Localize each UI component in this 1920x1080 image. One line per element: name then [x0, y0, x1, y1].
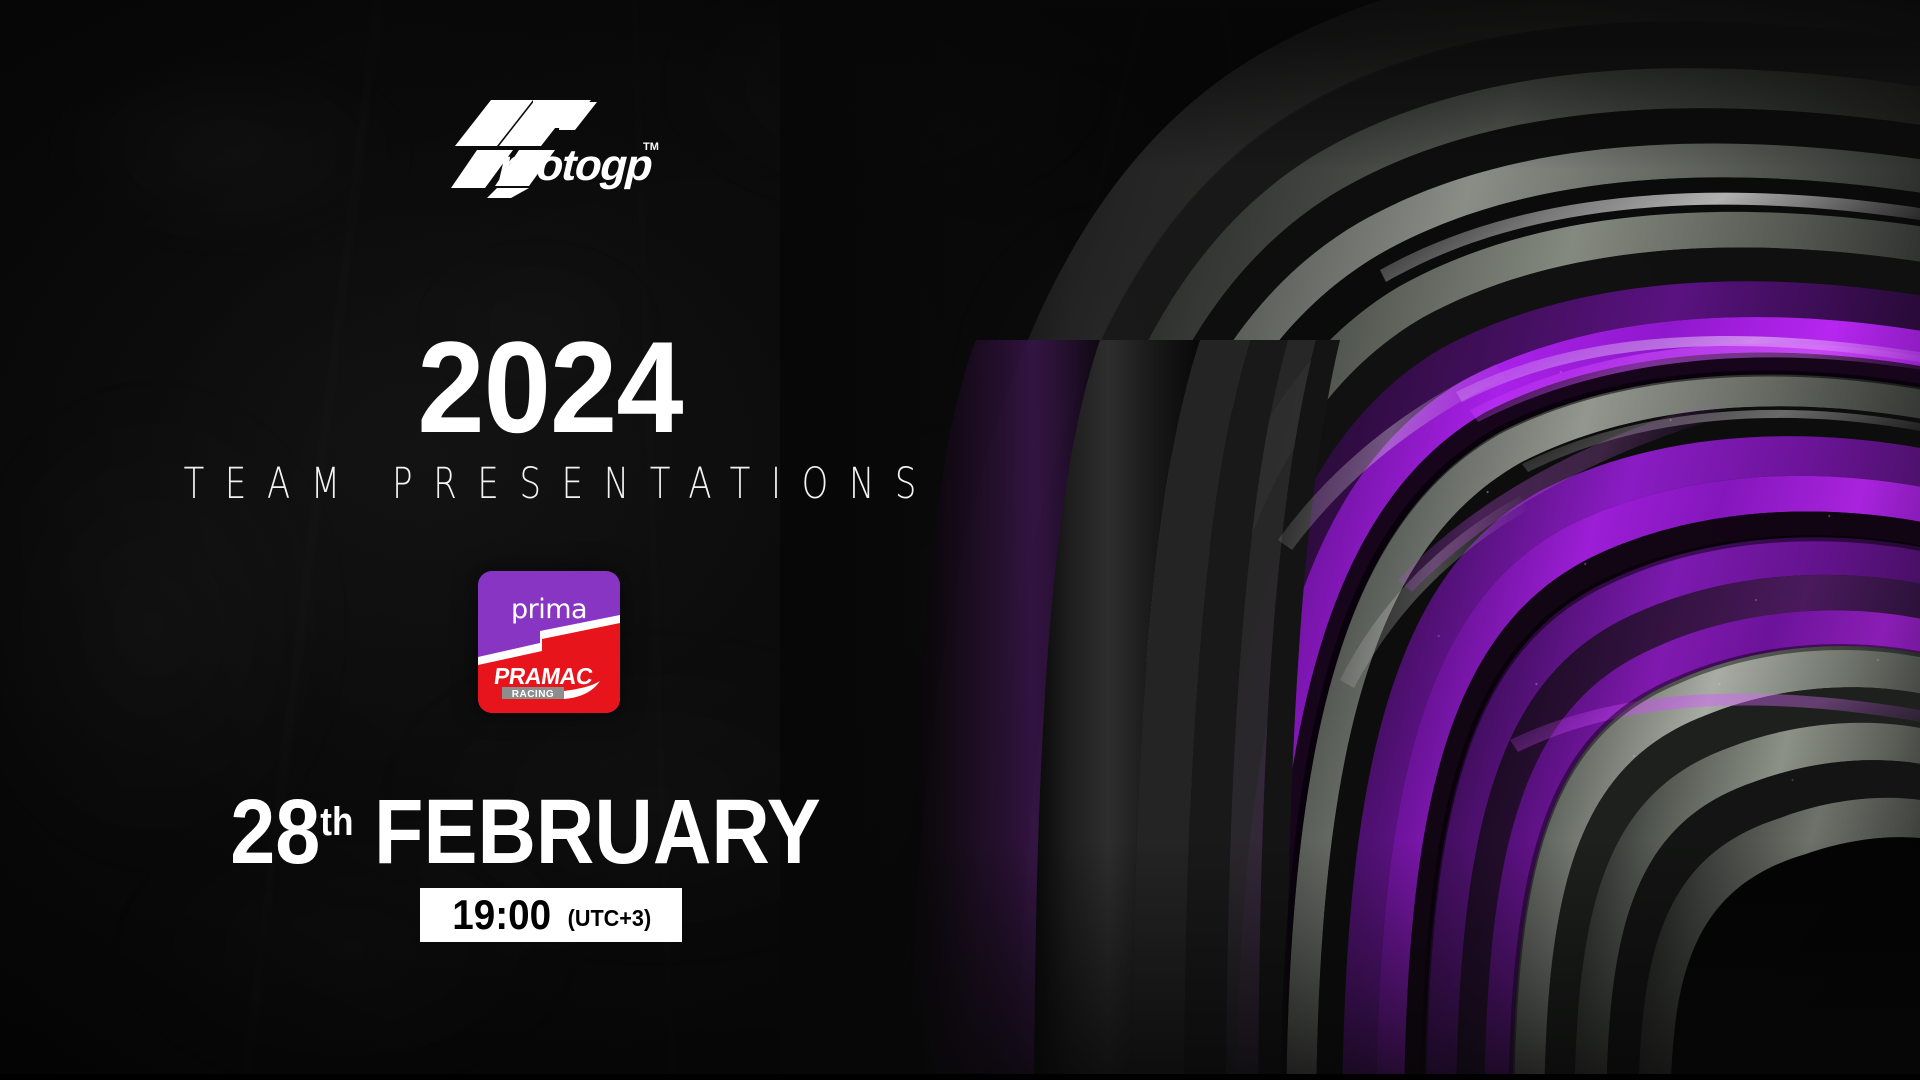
prima-pramac-racing-logo: prima PRAMAC RACING	[478, 571, 620, 713]
content-column: motogp TM 2024 TEAM PRESENTATIONS prima	[0, 0, 1100, 1080]
event-date: 28thFEBRUARY	[0, 786, 1100, 878]
date-day: 28	[230, 786, 320, 878]
year-heading: 2024	[39, 322, 1062, 452]
svg-text:TM: TM	[643, 141, 659, 153]
event-time-bar: 19:00 (UTC+3)	[420, 888, 682, 942]
motogp-logo: motogp TM	[437, 98, 665, 198]
svg-text:motogp: motogp	[494, 142, 658, 190]
subtitle-team-presentations: TEAM PRESENTATIONS	[33, 464, 1067, 506]
svg-text:prima: prima	[511, 594, 587, 625]
date-ordinal-suffix: th	[321, 802, 354, 842]
event-timezone: (UTC+3)	[568, 907, 651, 930]
svg-text:PRAMAC: PRAMAC	[492, 663, 594, 689]
date-month: FEBRUARY	[374, 786, 821, 878]
svg-text:RACING: RACING	[512, 689, 554, 700]
motogp-team-presentation-poster: motogp TM 2024 TEAM PRESENTATIONS prima	[0, 0, 1920, 1080]
bottom-edge-strip	[0, 1074, 1920, 1080]
event-time: 19:00	[452, 894, 551, 936]
